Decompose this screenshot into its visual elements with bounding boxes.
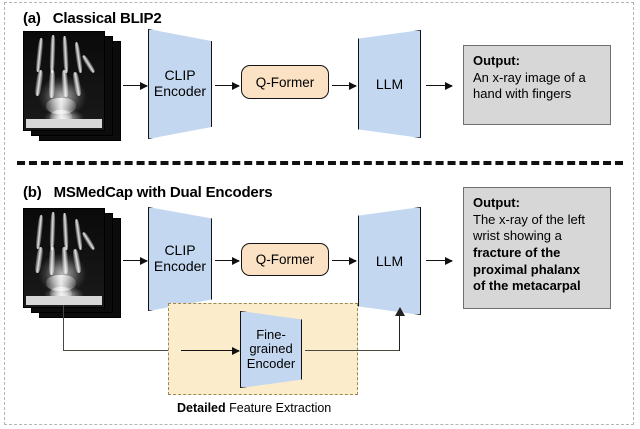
xray-image-stack-b <box>23 208 121 318</box>
arrow-qformer-to-llm-a <box>332 85 356 86</box>
detailed-feature-extraction-caption: Detailed Feature Extraction <box>177 401 331 415</box>
panel-b-title-text: MSMedCap with Dual Encoders <box>54 184 273 201</box>
clip-encoder-b: CLIP Encoder <box>148 207 212 311</box>
clip-encoder-line2: Encoder <box>154 84 206 100</box>
output-line: proximal phalanx <box>473 262 602 279</box>
clip-encoder-line1: CLIP <box>164 243 195 259</box>
arrow-to-fine-encoder <box>181 350 239 351</box>
xray-baseplate <box>26 296 102 305</box>
output-line: wrist showing a <box>473 228 602 245</box>
arrow-llm-to-output-b <box>426 260 452 261</box>
panel-b-title: (b)MSMedCap with Dual Encoders <box>23 185 272 200</box>
xray-hand-image <box>24 209 104 307</box>
llm-a: LLM <box>358 30 421 138</box>
output-line: An x-ray image of a <box>473 70 602 87</box>
branch-line-vertical <box>63 305 64 350</box>
fine-encoder-line1: Fine- <box>256 328 286 343</box>
output-label: Output: <box>473 195 602 212</box>
fine-encoder-line3: Encoder <box>247 357 295 372</box>
qformer-label: Q-Former <box>256 75 315 90</box>
qformer-a: Q-Former <box>241 65 329 99</box>
caption-bold-part: Detailed <box>177 401 226 415</box>
panel-classical-blip2: (a)Classical BLIP2 <box>5 3 633 163</box>
arrow-qformer-to-llm-b <box>332 260 356 261</box>
panel-a-tag: (a) <box>23 10 41 27</box>
panel-a-title: (a)Classical BLIP2 <box>23 11 161 26</box>
xray-hand-image <box>24 32 104 130</box>
fine-encoder-output-line <box>305 350 399 351</box>
panel-msmedcap-dual-encoders: (b)MSMedCap with Dual Encoders <box>5 165 633 424</box>
arrow-image-to-clip-a <box>123 85 147 86</box>
caption-rest-part: Feature Extraction <box>226 401 332 415</box>
llm-b: LLM <box>358 207 421 315</box>
output-label: Output: <box>473 53 602 70</box>
output-box-b: Output: The x-ray of the left wrist show… <box>463 187 611 309</box>
output-line: The x-ray of the left <box>473 212 602 229</box>
fine-grained-encoder: Fine- grained Encoder <box>240 311 302 388</box>
arrow-clip-to-qformer-b <box>215 260 239 261</box>
xray-image-stack-a <box>23 31 121 141</box>
arrow-clip-to-qformer-a <box>215 85 239 86</box>
xray-sheet-front <box>23 31 105 131</box>
clip-encoder-line1: CLIP <box>164 68 195 84</box>
llm-label: LLM <box>376 253 403 269</box>
fine-encoder-line2: grained <box>249 342 292 357</box>
xray-baseplate <box>26 119 102 128</box>
qformer-b: Q-Former <box>241 243 329 276</box>
qformer-label: Q-Former <box>256 252 315 267</box>
arrow-fine-encoder-to-llm <box>399 315 400 351</box>
clip-encoder-line2: Encoder <box>154 259 206 275</box>
output-line: fracture of the <box>473 245 602 262</box>
panel-b-tag: (b) <box>23 184 42 201</box>
branch-line-horizontal <box>63 350 183 351</box>
llm-label: LLM <box>376 76 403 92</box>
figure-container: (a)Classical BLIP2 <box>4 2 634 425</box>
xray-sheet-front <box>23 208 105 308</box>
arrow-image-to-clip-b <box>123 260 147 261</box>
output-line: hand with fingers <box>473 86 602 103</box>
output-line: of the metacarpal <box>473 278 602 295</box>
output-box-a: Output: An x-ray image of a hand with fi… <box>463 45 611 125</box>
arrow-llm-to-output-a <box>426 85 452 86</box>
clip-encoder-a: CLIP Encoder <box>148 29 212 139</box>
panel-a-title-text: Classical BLIP2 <box>53 10 162 27</box>
